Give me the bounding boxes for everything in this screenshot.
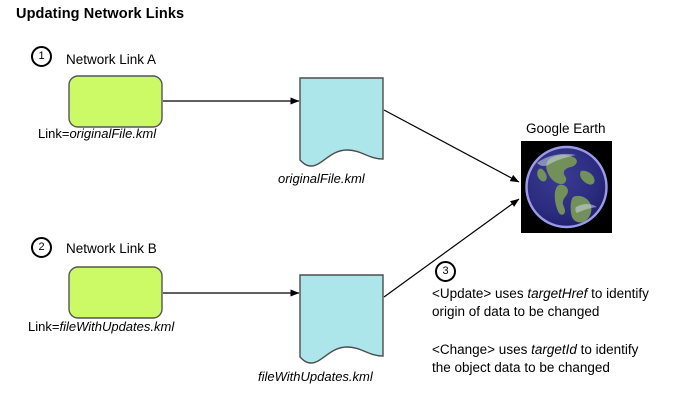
note-change-line1-post: to identify (577, 342, 639, 357)
note-change-targetid: <Change> uses targetId to identify the o… (432, 341, 638, 377)
note-update-line1-pre: <Update> uses (432, 286, 527, 301)
note-update-line1: <Update> uses targetHref to identify (432, 285, 649, 303)
document-a-shape (300, 78, 383, 166)
arrow-doc-a-to-google-earth (384, 110, 519, 182)
google-earth-label: Google Earth (526, 121, 606, 137)
network-link-b-href-value: fileWithUpdates.kml (59, 319, 174, 334)
network-link-a-href-value: originalFile.kml (69, 126, 156, 141)
note-update-line1-em: targetHref (527, 286, 587, 301)
network-link-b-box (69, 267, 162, 318)
network-link-b-title: Network Link B (66, 241, 157, 257)
note-update-line1-post: to identify (587, 286, 649, 301)
note-change-line1-em: targetId (531, 342, 577, 357)
note-change-line2: the object data to be changed (432, 359, 638, 377)
diagram-canvas: Updating Network Links 1 2 3 Network Lin… (0, 0, 688, 411)
note-update-line2: origin of data to be changed (432, 303, 649, 321)
network-link-a-href-prefix: Link= (38, 126, 69, 141)
network-link-a-title: Network Link A (66, 52, 156, 68)
arrow-doc-b-to-google-earth (384, 199, 519, 297)
network-link-b-href-prefix: Link= (28, 319, 59, 334)
network-link-a-href: Link=originalFile.kml (38, 127, 156, 142)
note-update-targethref: <Update> uses targetHref to identify ori… (432, 285, 649, 321)
globe-earth-icon (521, 141, 612, 233)
document-a-label: originalFile.kml (278, 172, 365, 187)
network-link-b-href: Link=fileWithUpdates.kml (28, 320, 174, 335)
page-title: Updating Network Links (16, 6, 184, 23)
document-b-label: fileWithUpdates.kml (258, 370, 373, 385)
note-change-line1-pre: <Change> uses (432, 342, 531, 357)
document-b-shape (300, 275, 383, 363)
step-number-2: 2 (31, 237, 52, 258)
note-change-line1: <Change> uses targetId to identify (432, 341, 638, 359)
network-link-a-box (69, 76, 162, 127)
step-number-1: 1 (31, 46, 52, 67)
step-number-3: 3 (435, 261, 456, 282)
